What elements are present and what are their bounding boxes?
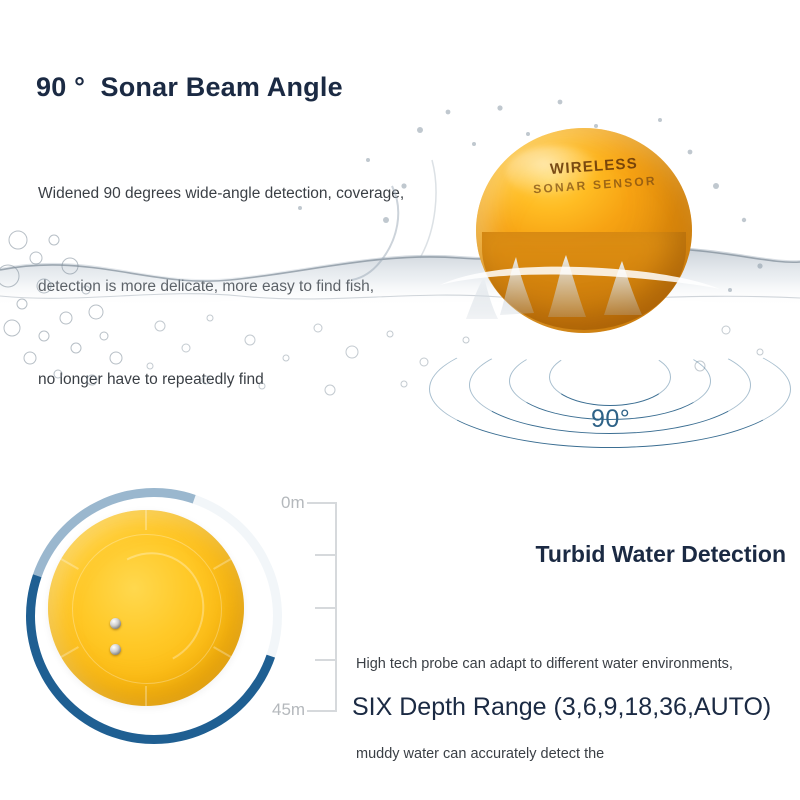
disc-seam-upper-right [213,558,231,570]
depth-label-bottom: 45m [272,700,305,720]
beam-angle-label: 90° [591,405,630,434]
splash-crowns [0,255,800,315]
sonar-beam-angle-heading: 90 ° Sonar Beam Angle [36,72,343,103]
turbid-line-1: High tech probe can adapt to different w… [356,649,733,679]
contact-stud-upper [110,618,121,629]
depth-tick-1 [315,554,337,556]
sensor-disc-bottom-view [22,484,274,736]
depth-tick-2 [315,607,337,609]
product-infographic: 90 ° Sonar Beam Angle Widened 90 degrees… [0,0,800,800]
turbid-line-2: muddy water can accurately detect the [356,739,733,769]
splash-wisp-left-2 [420,160,436,258]
disc-seam-lower-right [213,646,231,658]
splash-crown-svg [0,255,800,325]
turbid-water-detection-heading: Turbid Water Detection [340,541,786,568]
description-line-1: Widened 90 degrees wide-angle detection,… [38,178,404,209]
depth-tick-3 [315,659,337,661]
splash-crown-1 [500,257,534,315]
splash-crown-2 [548,255,586,317]
contact-stud-lower [110,644,121,655]
depth-tick-0 [307,502,337,504]
disc-face [48,510,244,706]
disc-seam-bottom [145,686,147,706]
depth-tick-4 [307,710,337,712]
six-depth-range-label: SIX Depth Range (3,6,9,18,36,AUTO) [352,693,771,722]
splash-crown-4 [466,277,498,319]
depth-label-top: 0m [281,493,305,513]
depth-scale-ruler [335,502,337,712]
disc-seam-upper-left [61,558,79,570]
description-line-3: no longer have to repeatedly find [38,364,404,395]
disc-seam-top [145,510,147,530]
disc-seam-lower-left [61,646,79,658]
